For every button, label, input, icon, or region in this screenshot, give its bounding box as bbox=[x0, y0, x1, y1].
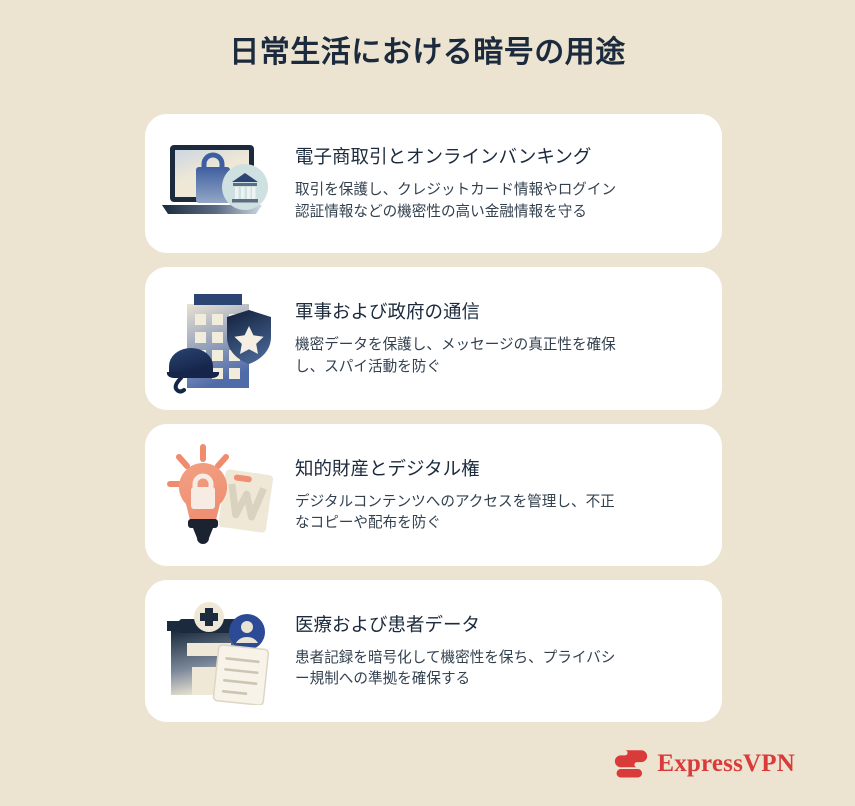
card-title: 医療および患者データ bbox=[295, 612, 625, 638]
card-title: 軍事および政府の通信 bbox=[295, 299, 625, 325]
card-healthcare-patient-data: 医療および患者データ 患者記録を暗号化して機密性を保ち、プライバシー規制への準拠… bbox=[145, 580, 722, 722]
card-intellectual-property: 知的財産とデジタル権 デジタルコンテンツへのアクセスを管理し、不正なコピーや配布… bbox=[145, 424, 722, 566]
laptop-shopping-bag-bank-icon bbox=[145, 114, 295, 253]
government-building-shield-helmet-icon bbox=[145, 267, 295, 410]
hospital-patient-record-icon bbox=[145, 580, 295, 722]
card-description: デジタルコンテンツへのアクセスを管理し、不正なコピーや配布を防ぐ bbox=[295, 492, 625, 535]
card-description: 患者記録を暗号化して機密性を保ち、プライバシー規制への準拠を確保する bbox=[295, 648, 625, 691]
card-ecommerce-banking: 電子商取引とオンラインバンキング 取引を保護し、クレジットカード情報やログイン認… bbox=[145, 114, 722, 253]
card-description: 取引を保護し、クレジットカード情報やログイン認証情報などの機密性の高い金融情報を… bbox=[295, 180, 625, 223]
page-title: 日常生活における暗号の用途 bbox=[0, 33, 855, 73]
card-body: 電子商取引とオンラインバンキング 取引を保護し、クレジットカード情報やログイン認… bbox=[295, 144, 651, 223]
expressvpn-e-mark bbox=[614, 748, 648, 778]
card-body: 知的財産とデジタル権 デジタルコンテンツへのアクセスを管理し、不正なコピーや配布… bbox=[295, 456, 651, 535]
card-description: 機密データを保護し、メッセージの真正性を確保し、スパイ活動を防ぐ bbox=[295, 335, 625, 378]
card-list: 電子商取引とオンラインバンキング 取引を保護し、クレジットカード情報やログイン認… bbox=[145, 114, 722, 736]
lightbulb-padlock-document-icon bbox=[145, 424, 295, 566]
expressvpn-wordmark: ExpressVPN bbox=[657, 751, 795, 776]
card-body: 医療および患者データ 患者記録を暗号化して機密性を保ち、プライバシー規制への準拠… bbox=[295, 612, 651, 691]
card-body: 軍事および政府の通信 機密データを保護し、メッセージの真正性を確保し、スパイ活動… bbox=[295, 299, 651, 378]
card-title: 電子商取引とオンラインバンキング bbox=[295, 144, 625, 170]
expressvpn-logo: ExpressVPN bbox=[614, 748, 795, 778]
card-title: 知的財産とデジタル権 bbox=[295, 456, 625, 482]
infographic-page: 日常生活における暗号の用途 bbox=[0, 0, 855, 806]
card-military-government: 軍事および政府の通信 機密データを保護し、メッセージの真正性を確保し、スパイ活動… bbox=[145, 267, 722, 410]
